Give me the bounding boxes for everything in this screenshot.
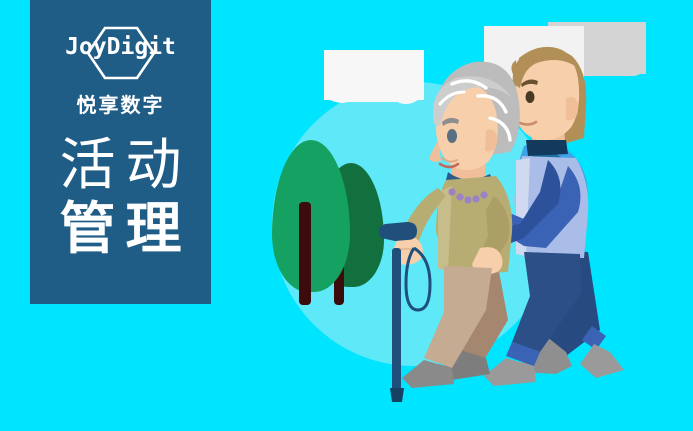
young-man-back-shoe-2 [580,344,624,378]
logo-wordmark: JoyDigit [30,34,211,60]
page-title: 活动 管理 [30,133,211,261]
page-title-line-2: 管理 [30,197,211,261]
woman-mouth [440,164,458,167]
hexagon-mark-icon: JoyDigit [30,26,211,80]
cane-handle [379,222,417,241]
woman-eye [447,129,457,143]
brand-panel: JoyDigit 悦享数字 活动 管理 [30,0,211,304]
young-man-collar [526,140,568,156]
page-title-line-1: 活动 [30,133,211,197]
logo-chinese-name: 悦享数字 [30,89,211,118]
cane-shaft [392,248,401,394]
poster-canvas: JoyDigit 悦享数字 活动 管理 [0,0,693,431]
cane-tip [390,388,404,402]
logo-block: JoyDigit 悦享数字 [30,26,211,118]
young-man-eye [526,91,535,103]
